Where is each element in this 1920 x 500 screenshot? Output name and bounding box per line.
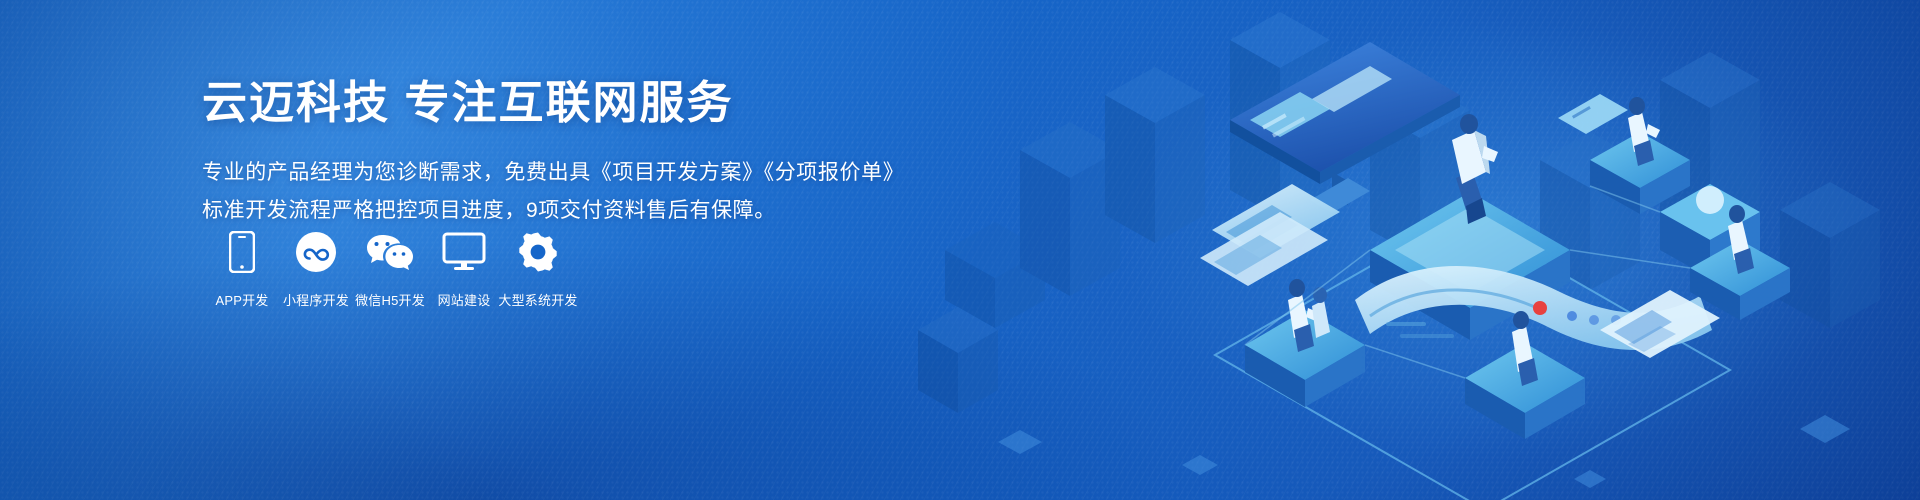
service-label-website: 网站建设 [438,293,491,309]
background-blocks [918,12,1880,413]
person-front-right [1512,311,1538,386]
hero-banner: 云迈科技 专注互联网服务 专业的产品经理为您诊断需求，免费出具《项目开发方案》《… [0,0,1920,500]
wireframe-card [1600,290,1720,358]
base-platform-outline [1215,215,1730,500]
center-pedestal [1370,192,1570,340]
document-sheets [1200,184,1340,286]
wechat-icon [365,228,415,276]
service-item-app[interactable]: APP开发 [205,228,279,309]
page-title: 云迈科技 专注互联网服务 [202,74,902,132]
floating-diamonds [998,415,1850,488]
platform-right-upper [1590,132,1690,214]
mini-program-icon [295,228,337,276]
platform-front-left [1245,310,1365,407]
floating-screen-right [1558,94,1628,134]
service-item-system[interactable]: 大型系统开发 [501,228,575,309]
subtitle-line-2: 标准开发流程严格把控项目进度，9项交付资料售后有保障。 [202,192,902,230]
platform-right-lower [1690,240,1790,320]
service-item-website[interactable]: 网站建设 [427,228,501,309]
service-label-system: 大型系统开发 [498,293,577,309]
person-front-left-b [1312,287,1330,338]
person-right-upper [1628,97,1660,166]
person-center [1452,114,1498,224]
hero-subtitle: 专业的产品经理为您诊断需求，免费出具《项目开发方案》《分项报价单》 标准开发流程… [202,154,902,230]
background-glow-bottom [0,240,1200,500]
person-right-lower [1728,205,1754,274]
connector-lines [1245,186,1690,378]
cube-with-sphere [1660,184,1760,278]
service-label-wechat: 微信H5开发 [355,293,425,309]
mobile-phone-icon [229,228,255,276]
hero-copy: 云迈科技 专注互联网服务 专业的产品经理为您诊断需求，免费出具《项目开发方案》《… [202,74,902,230]
service-item-wechat[interactable]: 微信H5开发 [353,228,427,309]
service-item-mini-program[interactable]: 小程序开发 [279,228,353,309]
isometric-illustration [900,0,1920,500]
gear-icon [517,228,559,276]
flowing-dashboard-ribbon [1355,266,1712,350]
platform-front-right [1465,343,1585,439]
subtitle-line-1: 专业的产品经理为您诊断需求，免费出具《项目开发方案》《分项报价单》 [202,154,902,192]
person-front-left-a [1288,279,1322,352]
service-icon-list: APP开发 小程序开发 微信 [205,228,575,309]
service-label-mini-program: 小程序开发 [283,293,349,309]
service-label-app: APP开发 [215,293,268,309]
monitor-icon [442,228,486,276]
desktop-monitor [1230,42,1460,213]
